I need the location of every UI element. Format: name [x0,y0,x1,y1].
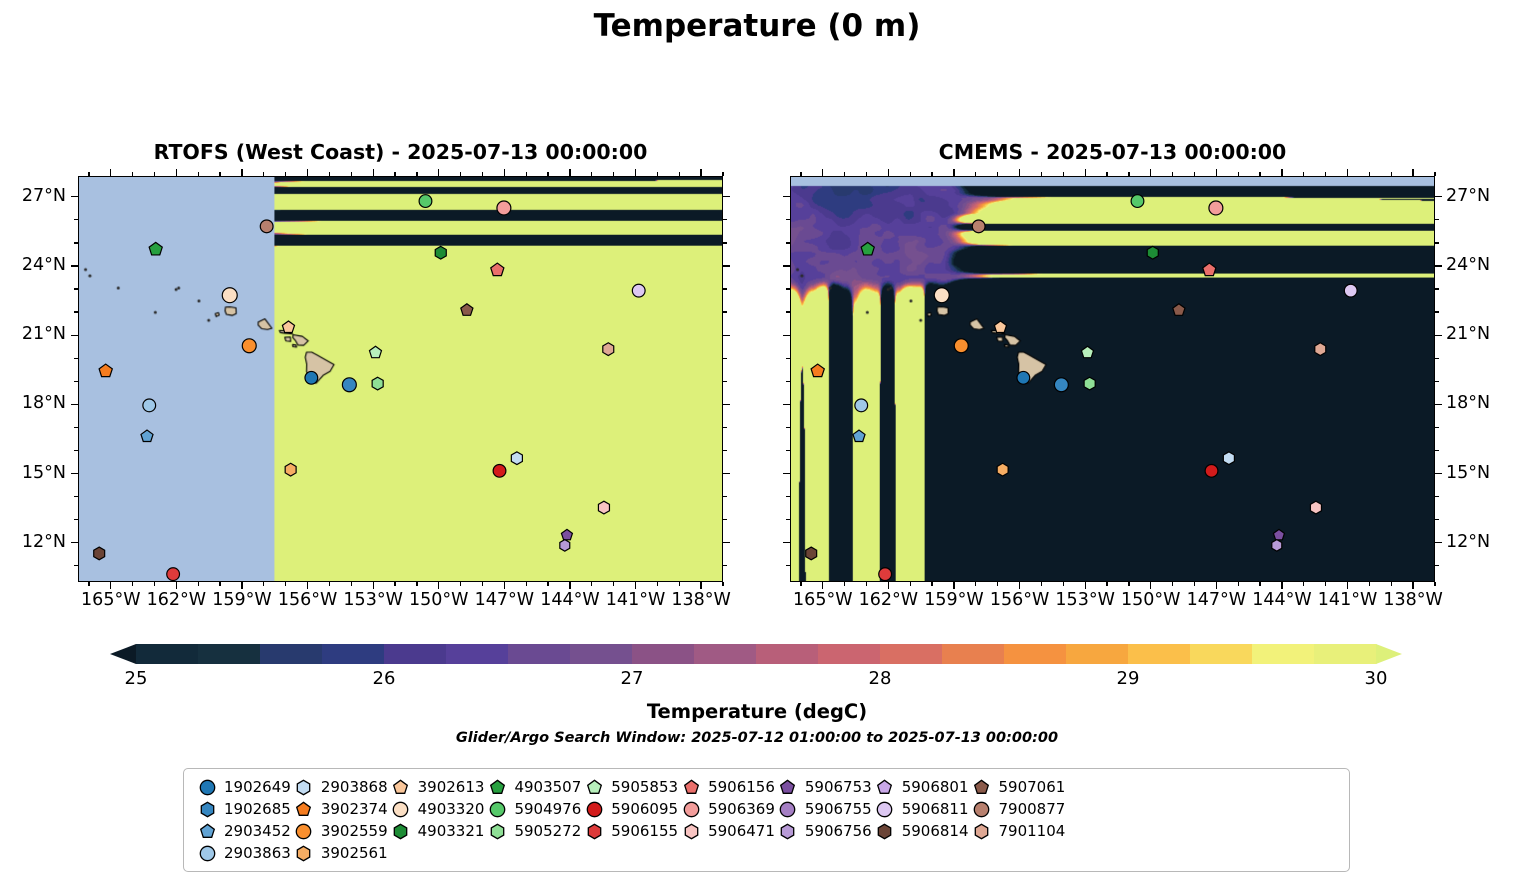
legend-entry[interactable]: 4903507 [484,776,581,798]
legend-entry-label: 2903868 [317,778,388,796]
float-marker[interactable]: 4903320 [934,288,949,303]
lon-tick [176,169,177,176]
lon-tick-minor [263,172,264,176]
lon-label: 159°W [924,590,983,610]
lon-label: 150°W [409,590,468,610]
float-marker-icon [291,820,317,842]
lon-tick [1281,582,1282,589]
legend-entry-label: 3902613 [414,778,485,796]
float-marker[interactable]: 4903507 [861,242,874,255]
float-marker[interactable]: 3902374 [811,364,824,377]
float-marker[interactable]: 4903320 [222,288,237,303]
legend-entry-label: 5906155 [607,822,678,840]
float-marker[interactable]: 3902374 [99,364,112,377]
lat-tick [71,335,78,336]
lon-tick-minor [1172,172,1173,176]
legend-entry-label: 5906471 [704,822,775,840]
lon-tick-minor [526,172,527,176]
float-marker[interactable]: 1902649 [305,371,318,384]
legend-entry[interactable]: 5904976 [484,798,581,820]
float-marker-icon [291,776,317,798]
lon-label: 153°W [1055,590,1114,610]
lat-tick [71,473,78,474]
lon-tick-minor [657,172,658,176]
lon-tick [1150,169,1151,176]
legend-entry[interactable]: 5906156 [678,776,775,798]
float-marker[interactable]: 2903863 [143,399,156,412]
float-marker[interactable]: 5906753 [561,529,572,539]
map-overlay-rtofs: 5904976590636979008774903507490332159061… [79,177,722,581]
float-marker[interactable]: 5906756 [1272,540,1282,552]
lon-tick-minor [800,582,801,586]
lat-tick-minor [723,381,727,382]
lon-tick [888,169,889,176]
float-marker[interactable]: 1902685 [342,378,356,392]
float-marker[interactable]: 5906753 [1273,529,1284,539]
lon-tick-minor [591,582,592,586]
lat-tick-minor [1435,565,1439,566]
lat-label: 24°N [1446,255,1490,275]
float-marker-icon [775,798,801,820]
float-marker[interactable]: 5907061 [461,304,473,316]
lon-tick-minor [198,172,199,176]
legend-entry[interactable]: 3902374 [291,798,388,820]
lon-tick-minor [679,582,680,586]
lon-tick [307,582,308,589]
lat-tick [723,473,730,474]
float-marker-icon [388,798,414,820]
lat-tick-minor [1435,450,1439,451]
legend-column: 4903507 5904976 5905272 [484,776,581,842]
float-marker[interactable]: 4903321 [435,246,446,259]
lon-tick-minor [1325,582,1326,586]
lon-label: 141°W [606,590,665,610]
lon-tick-minor [482,172,483,176]
lon-tick [438,169,439,176]
legend-column: 5906156 5906369 5906471 [678,776,775,842]
float-marker-icon [872,776,898,798]
lat-tick [1435,542,1442,543]
lon-label: 159°W [212,590,271,610]
float-marker[interactable]: 5906811 [632,284,645,297]
lat-tick-minor [723,427,727,428]
float-marker-icon [291,842,317,864]
float-marker[interactable]: 7900877 [972,220,985,233]
lon-tick-minor [1106,582,1107,586]
float-marker[interactable]: 3902613 [282,321,294,333]
colorbar-tick-label: 25 [125,668,148,689]
lon-tick-minor [329,172,330,176]
float-marker[interactable]: 1902685 [1054,378,1068,392]
lon-tick-minor [975,172,976,176]
lat-tick-minor [723,496,727,497]
float-marker[interactable]: 3902559 [954,339,968,353]
lon-label: 147°W [475,590,534,610]
lon-tick-minor [1041,582,1042,586]
lon-tick-minor [1369,172,1370,176]
legend-entry-label: 5905272 [510,822,581,840]
legend-entry[interactable]: 5906814 [872,820,969,842]
float-marker[interactable]: 7900877 [260,220,273,233]
lat-tick-minor [786,496,790,497]
lon-tick-minor [1238,582,1239,586]
lon-tick [888,582,889,589]
float-marker[interactable]: 2903868 [1223,452,1234,465]
lon-tick [700,169,701,176]
lat-tick-minor [723,565,727,566]
legend-entry-label: 5904976 [510,800,581,818]
lon-tick [504,169,505,176]
lon-tick [1281,169,1282,176]
float-marker[interactable]: 4903321 [1147,246,1158,259]
float-marker[interactable]: 5906471 [1310,501,1321,514]
float-marker[interactable]: 5906369 [497,201,511,215]
legend-entry-label: 5907061 [995,778,1066,796]
float-marker-icon [969,776,995,798]
legend-entry-label: 1902685 [220,800,291,818]
lon-tick-minor [1259,172,1260,176]
lat-tick [723,542,730,543]
lon-tick [373,169,374,176]
lat-tick-minor [74,311,78,312]
lat-tick-minor [74,358,78,359]
float-marker[interactable]: 3902561 [285,463,296,476]
float-marker[interactable]: 5906814 [94,547,105,560]
lon-tick-minor [1063,582,1064,586]
float-marker[interactable]: 5906155 [167,568,180,581]
legend-entry[interactable]: 2903863 [194,842,291,864]
legend-entry-label: 5906095 [607,800,678,818]
float-marker[interactable]: 3902613 [994,321,1006,333]
lon-label: 150°W [1121,590,1180,610]
lon-tick-minor [460,582,461,586]
legend-entry-label: 4903321 [414,822,485,840]
float-marker[interactable]: 5905272 [1084,377,1095,390]
legend-entry[interactable]: 5906756 [775,820,872,842]
lon-tick [110,582,111,589]
float-marker[interactable]: 5906811 [1344,284,1357,297]
float-marker-icon [775,776,801,798]
lon-label: 162°W [859,590,918,610]
lat-label: 15°N [1446,463,1490,483]
lon-tick [700,582,701,589]
lon-tick-minor [975,582,976,586]
legend-entry[interactable]: 5905853 [581,776,678,798]
lon-tick-minor [547,172,548,176]
legend-entry-label: 5906369 [704,800,775,818]
float-marker-icon [291,798,317,820]
lon-tick-minor [526,582,527,586]
lat-tick-minor [786,565,790,566]
panel-title-rtofs: RTOFS (West Coast) - 2025-07-13 00:00:00 [78,140,723,164]
lon-tick [110,169,111,176]
float-marker[interactable]: 3902561 [997,463,1008,476]
float-marker[interactable]: 5906156 [1203,263,1216,276]
lon-tick [438,582,439,589]
lon-tick-minor [285,172,286,176]
float-marker[interactable]: 5906095 [493,464,506,477]
float-marker[interactable]: 5904976 [419,195,432,208]
legend-entry[interactable]: 1902649 [194,776,291,798]
lat-tick-minor [1435,496,1439,497]
figure-canvas: Temperature (0 m) RTOFS (West Coast) - 2… [0,0,1514,889]
lat-tick-minor [1435,358,1439,359]
float-marker[interactable]: 4903507 [149,242,162,255]
legend-column: 1902649 1902685 2903452 2903863 [194,776,291,864]
lon-tick-minor [1128,172,1129,176]
float-marker[interactable]: 2903868 [511,452,522,465]
lon-label: 165°W [793,590,852,610]
float-marker-icon [484,798,510,820]
lon-tick [635,169,636,176]
float-marker-icon [678,776,704,798]
lon-tick [504,582,505,589]
lat-tick-minor [786,519,790,520]
lon-tick-minor [1369,582,1370,586]
page-title: Temperature (0 m) [0,8,1514,44]
lat-tick [71,404,78,405]
lon-tick [953,582,954,589]
float-marker[interactable]: 5904976 [1131,195,1144,208]
lon-tick-minor [866,582,867,586]
lon-tick-minor [1391,582,1392,586]
lon-tick-minor [1391,172,1392,176]
map-panel-rtofs[interactable]: 5904976590636979008774903507490332159061… [78,176,723,582]
lon-label: 144°W [1252,590,1311,610]
lat-tick-minor [74,427,78,428]
map-overlay-cmems: 5904976590636979008774903507490332159061… [791,177,1434,581]
float-marker-icon [194,842,220,864]
legend-entry[interactable]: 5906801 [872,776,969,798]
lon-tick-minor [198,582,199,586]
legend-entry-label: 5906756 [801,822,872,840]
float-marker-icon [678,798,704,820]
lon-tick-minor [460,172,461,176]
lon-tick-minor [1259,582,1260,586]
lon-tick [569,169,570,176]
legend-column: 2903868 3902374 3902559 3902561 [291,776,388,864]
lon-tick-minor [416,172,417,176]
float-marker[interactable]: 5906471 [598,501,609,514]
lon-label: 156°W [278,590,337,610]
lat-tick-minor [1435,219,1439,220]
lon-tick-minor [329,582,330,586]
lat-tick [71,196,78,197]
legend-entry[interactable]: 7900877 [969,798,1066,820]
lon-tick [1347,582,1348,589]
lon-tick-minor [547,582,548,586]
lon-tick-minor [263,582,264,586]
lon-tick-minor [931,582,932,586]
float-id-legend: 1902649 1902685 2903452 2903863 2903868 [183,768,1350,872]
float-marker[interactable]: 5906814 [806,547,817,560]
lon-tick-minor [351,172,352,176]
lon-label: 141°W [1318,590,1377,610]
float-marker[interactable]: 2903863 [855,399,868,412]
float-marker[interactable]: 2903452 [853,430,865,441]
lat-tick-minor [786,288,790,289]
lon-tick-minor [931,172,932,176]
lon-tick-minor [154,172,155,176]
lat-tick-minor [74,288,78,289]
lat-label: 18°N [1446,393,1490,413]
float-marker[interactable]: 5905272 [372,377,383,390]
lon-tick [373,582,374,589]
lat-tick-minor [723,311,727,312]
legend-entry[interactable]: 2903452 [194,820,291,842]
colorbar-tick-label: 26 [373,668,396,689]
legend-entry[interactable]: 3902561 [291,842,388,864]
lat-tick [1435,265,1442,266]
legend-entry[interactable]: 5906095 [581,798,678,820]
float-marker[interactable]: 7901104 [603,343,614,356]
lon-tick-minor [132,582,133,586]
lat-label: 12°N [22,532,66,552]
lon-label: 147°W [1187,590,1246,610]
float-marker[interactable]: 5907061 [1173,304,1185,316]
legend-entry-label: 1902649 [220,778,291,796]
float-marker-icon [581,798,607,820]
lat-tick-minor [1435,427,1439,428]
float-marker-icon [388,776,414,798]
float-marker[interactable]: 5905853 [369,346,381,357]
lat-tick-minor [786,358,790,359]
legend-entry-label: 5906755 [801,800,872,818]
float-marker[interactable]: 7901104 [1315,343,1326,356]
lat-label: 15°N [22,463,66,483]
float-marker[interactable]: 5906155 [879,568,892,581]
float-marker-icon [581,820,607,842]
legend-entry[interactable]: 5906471 [678,820,775,842]
legend-entry[interactable]: 5906753 [775,776,872,798]
lon-tick-minor [1325,172,1326,176]
lat-tick-minor [786,311,790,312]
lon-tick-minor [722,172,723,176]
float-marker[interactable]: 5906156 [491,263,504,276]
lat-label: 27°N [22,186,66,206]
lon-tick-minor [1106,172,1107,176]
legend-entry[interactable]: 5906155 [581,820,678,842]
legend-entry-label: 4903320 [414,800,485,818]
lon-tick [1019,582,1020,589]
lat-tick [723,335,730,336]
legend-entry[interactable]: 5905272 [484,820,581,842]
legend-entry-label: 3902374 [317,800,388,818]
lon-label: 144°W [540,590,599,610]
lon-tick [822,582,823,589]
legend-entry[interactable]: 3902613 [388,776,485,798]
legend-entry[interactable]: 5907061 [969,776,1066,798]
legend-entry-label: 2903452 [220,822,291,840]
float-marker[interactable]: 1902649 [1017,371,1030,384]
colorbar-label: Temperature (degC) [0,700,1514,723]
lat-tick-minor [1435,381,1439,382]
float-marker-icon [775,820,801,842]
lon-tick [1085,582,1086,589]
lat-label: 12°N [1446,532,1490,552]
lat-tick-minor [1435,288,1439,289]
lon-tick [1216,169,1217,176]
legend-entry[interactable]: 4903321 [388,820,485,842]
lat-tick [71,542,78,543]
lon-tick-minor [285,582,286,586]
legend-entry-label: 4903507 [510,778,581,796]
lon-tick-minor [591,172,592,176]
lat-tick-minor [723,219,727,220]
legend-entry[interactable]: 1902685 [194,798,291,820]
float-marker-icon [388,820,414,842]
lat-tick [723,265,730,266]
lat-tick-minor [1435,311,1439,312]
lat-tick [71,265,78,266]
lat-tick [783,404,790,405]
legend-column: 5907061 7900877 7901104 [969,776,1066,842]
lon-tick-minor [394,582,395,586]
float-marker[interactable]: 5906756 [560,540,570,552]
lat-tick-minor [74,381,78,382]
lon-tick-minor [910,582,911,586]
legend-entry[interactable]: 5906755 [775,798,872,820]
lat-tick-minor [74,519,78,520]
lon-tick-minor [1063,172,1064,176]
lon-label: 138°W [671,590,730,610]
lon-tick-minor [219,172,220,176]
lon-tick-minor [482,582,483,586]
legend-entry[interactable]: 4903320 [388,798,485,820]
map-panel-cmems[interactable]: 5904976590636979008774903507490332159061… [790,176,1435,582]
float-marker-icon [872,798,898,820]
legend-entry-label: 5906753 [801,778,872,796]
float-marker[interactable]: 3902559 [242,339,256,353]
lon-tick-minor [657,582,658,586]
lat-tick [783,265,790,266]
lat-tick-minor [723,450,727,451]
colorbar[interactable] [110,641,1402,667]
lat-tick [1435,335,1442,336]
lon-label: 156°W [990,590,1049,610]
legend-entry[interactable]: 3902559 [291,820,388,842]
lon-tick-minor [1041,172,1042,176]
lon-tick-minor [1434,582,1435,586]
float-marker-icon [581,776,607,798]
legend-entry[interactable]: 7901104 [969,820,1066,842]
float-marker[interactable]: 2903452 [141,430,153,441]
lon-tick-minor [800,172,801,176]
lon-tick-minor [613,582,614,586]
lon-tick [1412,169,1413,176]
lon-tick-minor [844,172,845,176]
lat-tick-minor [74,242,78,243]
lat-tick-minor [786,450,790,451]
lon-tick-minor [1303,582,1304,586]
lat-tick [783,542,790,543]
float-marker[interactable]: 5906095 [1205,464,1218,477]
legend-entry[interactable]: 2903868 [291,776,388,798]
float-marker-icon [872,820,898,842]
lat-tick [1435,404,1442,405]
float-marker[interactable]: 5905853 [1081,346,1093,357]
float-marker[interactable]: 5906369 [1209,201,1223,215]
legend-entry[interactable]: 5906811 [872,798,969,820]
lon-label: 138°W [1383,590,1442,610]
lat-label: 21°N [1446,324,1490,344]
float-marker-icon [194,776,220,798]
search-window-caption: Glider/Argo Search Window: 2025-07-12 01… [0,730,1514,746]
lat-tick-minor [723,358,727,359]
lat-tick [783,196,790,197]
lon-tick-minor [1194,172,1195,176]
legend-entry[interactable]: 5906369 [678,798,775,820]
